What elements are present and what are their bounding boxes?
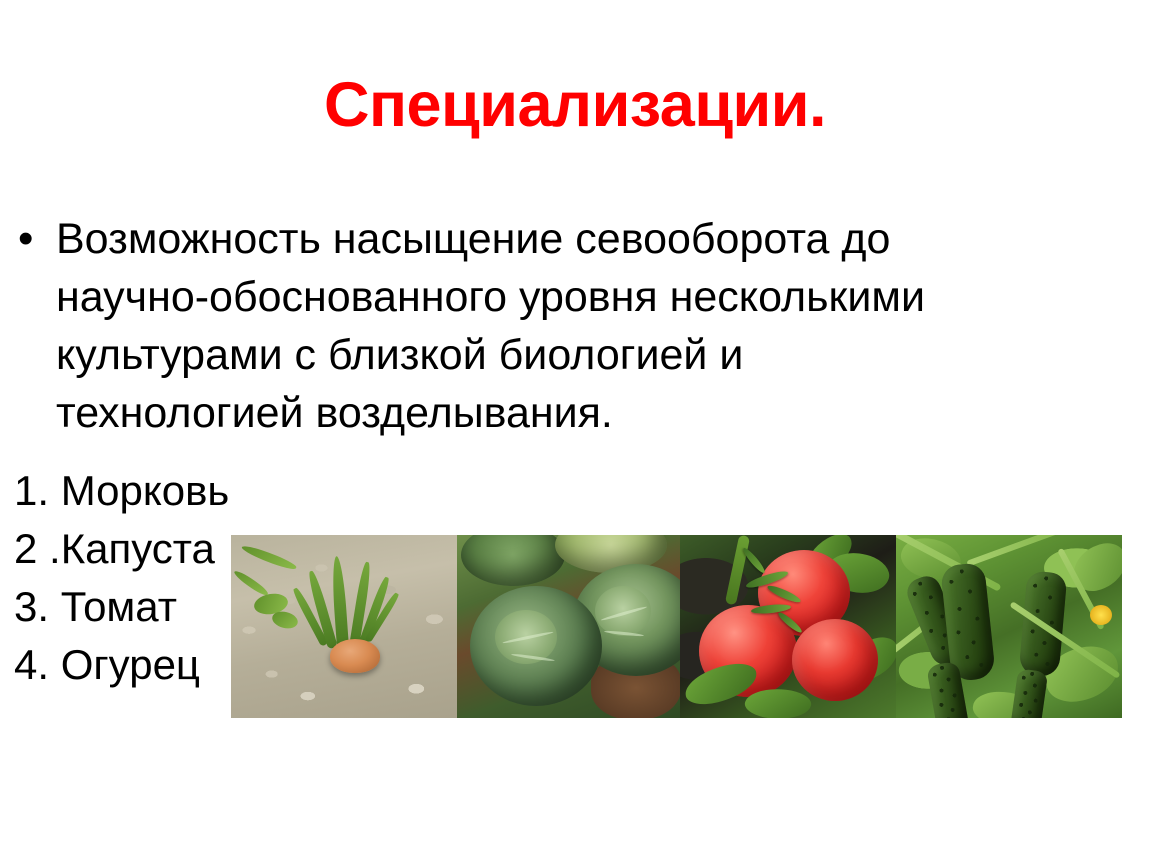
bullet-row: • Возможность насыщение севооборота до н… (18, 210, 1018, 442)
page-title: Специализации. (0, 72, 1150, 138)
cucumber-fruit (1009, 669, 1047, 718)
bullet-text: Возможность насыщение севооборота до нау… (56, 210, 1018, 442)
cucumber-vine (966, 535, 1071, 567)
list-item: 2 .Капуста (14, 520, 444, 577)
bullet-line-3: культурами с близкой биологией и (56, 326, 1018, 384)
list-item: 1. Морковь (14, 462, 444, 519)
bullet-paragraph: • Возможность насыщение севооборота до н… (18, 210, 1018, 442)
bullet-marker-icon: • (18, 210, 56, 268)
list-item: 3. Томат (14, 578, 444, 635)
tomato-fruit (792, 619, 878, 701)
cabbage-photo (457, 535, 680, 718)
cucumber-flower (1090, 605, 1112, 625)
presentation-slide: Специализации. • Возможность насыщение с… (0, 0, 1150, 864)
tomato-stem (725, 535, 750, 605)
cucumber-photo (896, 535, 1122, 718)
bullet-line-2: научно-обоснованного уровня несколькими (56, 268, 1018, 326)
list-item: 4. Огурец (14, 636, 444, 693)
bullet-line-1: Возможность насыщение севооборота до (56, 210, 1018, 268)
bullet-line-4: технологией возделывания. (56, 384, 1018, 442)
crop-numbered-list: 1. Морковь 2 .Капуста 3. Томат 4. Огурец (14, 462, 444, 694)
cabbage-head-back (461, 535, 565, 586)
tomato-calyx (741, 546, 767, 575)
cucumber-leaf (1066, 536, 1122, 598)
tomato-photo (680, 535, 896, 718)
